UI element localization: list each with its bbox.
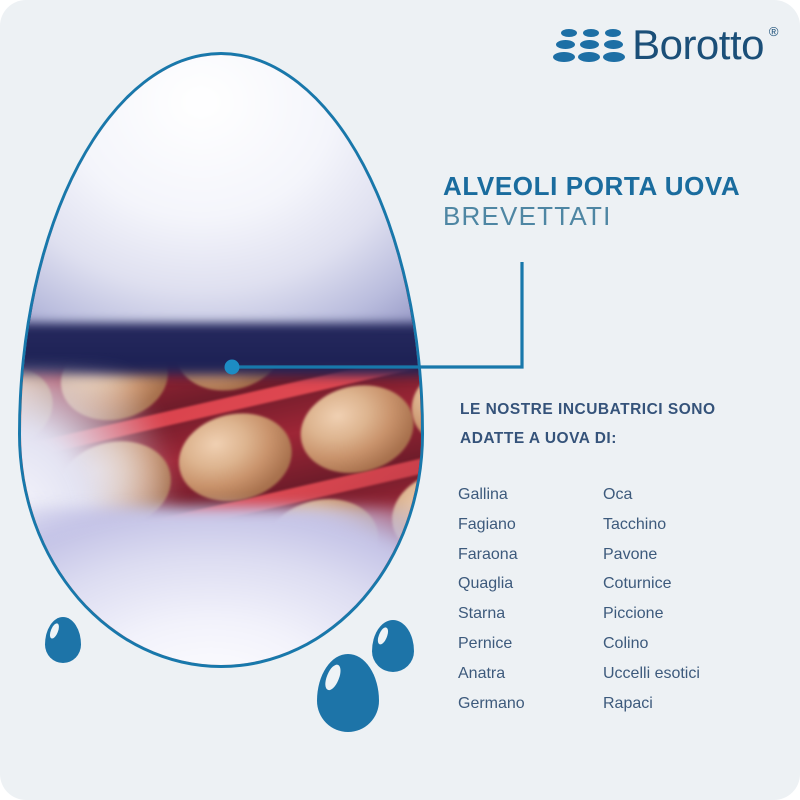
headline-secondary: BREVETTATI — [443, 200, 783, 233]
list-item: Quaglia — [458, 569, 603, 599]
list-item: Oca — [603, 480, 788, 510]
list-item: Rapaci — [603, 689, 788, 719]
list-item: Anatra — [458, 659, 603, 689]
list-item: Uccelli esotici — [603, 659, 788, 689]
egg-highlight — [322, 663, 343, 692]
decor-egg-large-center — [317, 654, 379, 732]
species-list: Gallina Fagiano Faraona Quaglia Starna P… — [458, 480, 788, 718]
decor-egg-small-left — [45, 617, 81, 663]
list-item: Tacchino — [603, 510, 788, 540]
brand-wordmark: Borotto® — [632, 24, 778, 66]
species-subheading-line1: LE NOSTRE INCUBATRICI SONO — [460, 396, 790, 425]
promo-card: Borotto® — [0, 0, 800, 800]
egg-highlight — [376, 626, 390, 646]
list-item: Gallina — [458, 480, 603, 510]
list-item: Colino — [603, 629, 788, 659]
registered-trademark-icon: ® — [769, 25, 778, 38]
species-column-left: Gallina Fagiano Faraona Quaglia Starna P… — [458, 480, 603, 718]
incubator-dome — [18, 52, 424, 323]
brand-name: Borotto — [632, 21, 764, 68]
species-column-right: Oca Tacchino Pavone Coturnice Piccione C… — [603, 480, 788, 718]
list-item: Piccione — [603, 599, 788, 629]
photo-content — [19, 53, 423, 667]
list-item: Germano — [458, 689, 603, 719]
species-subheading-line2: ADATTE A UOVA DI: — [460, 425, 790, 454]
list-item: Fagiano — [458, 510, 603, 540]
brand-logo[interactable]: Borotto® — [553, 24, 778, 66]
list-item: Pavone — [603, 540, 788, 570]
list-item: Faraona — [458, 540, 603, 570]
list-item: Starna — [458, 599, 603, 629]
headline-primary: ALVEOLI PORTA UOVA — [443, 172, 783, 200]
list-item: Pernice — [458, 629, 603, 659]
incubator-egg-tray-photo — [18, 52, 424, 668]
list-item: Coturnice — [603, 569, 788, 599]
egg-highlight — [48, 622, 61, 639]
page-title: ALVEOLI PORTA UOVA BREVETTATI — [443, 172, 783, 233]
species-subheading: LE NOSTRE INCUBATRICI SONO ADATTE A UOVA… — [460, 396, 790, 453]
egg-grid-icon — [553, 25, 625, 65]
